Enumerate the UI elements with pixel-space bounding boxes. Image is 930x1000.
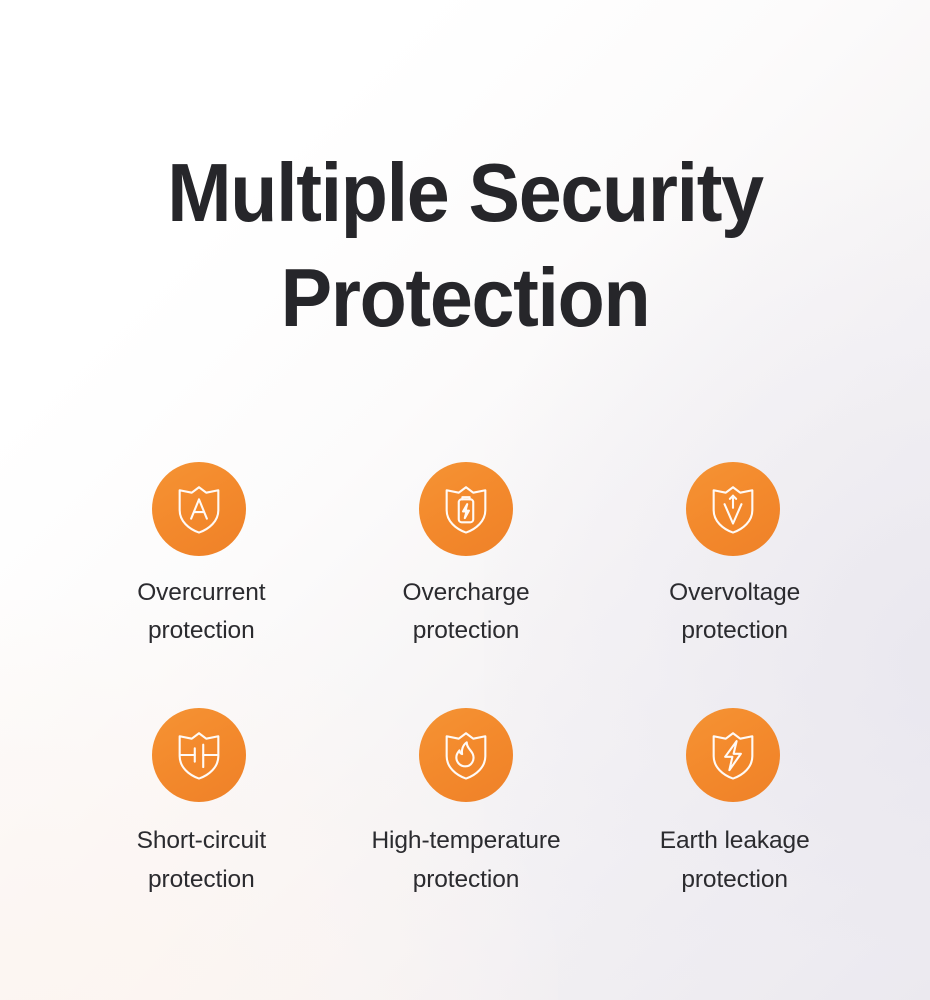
shield-battery-bolt-icon <box>437 480 495 538</box>
feature-earth-leakage: Earth leakage protection <box>599 708 866 898</box>
shield-open-circuit-icon <box>170 726 228 784</box>
shield-bolt-icon <box>704 726 762 784</box>
feature-overcharge: Overcharge protection <box>333 462 600 650</box>
page-title-block: Multiple Security Protection <box>0 140 930 351</box>
page-content: Multiple Security Protection Overcurrent… <box>0 0 930 1000</box>
shield-ampere-icon <box>170 480 228 538</box>
shield-flame-icon <box>437 726 495 784</box>
feature-label-high-temperature: High-temperature protection <box>371 822 560 898</box>
feature-icon-badge-earth-leakage <box>686 708 780 802</box>
feature-icon-badge-overcurrent <box>152 462 246 556</box>
protection-feature-grid: Overcurrent protection Overcharge protec… <box>66 462 866 899</box>
feature-label-short-circuit: Short-circuit protection <box>137 822 266 898</box>
feature-icon-badge-high-temperature <box>419 708 513 802</box>
feature-short-circuit: Short-circuit protection <box>66 708 333 898</box>
feature-label-overvoltage: Overvoltage protection <box>669 574 800 650</box>
page-title: Multiple Security Protection <box>33 140 898 351</box>
feature-overcurrent: Overcurrent protection <box>66 462 333 650</box>
security-features-page: Multiple Security Protection Overcurrent… <box>0 0 930 1000</box>
feature-icon-badge-short-circuit <box>152 708 246 802</box>
feature-icon-badge-overvoltage <box>686 462 780 556</box>
feature-icon-badge-overcharge <box>419 462 513 556</box>
feature-label-overcharge: Overcharge protection <box>402 574 529 650</box>
shield-volt-arrow-icon <box>704 480 762 538</box>
feature-label-overcurrent: Overcurrent protection <box>137 574 265 650</box>
feature-high-temperature: High-temperature protection <box>333 708 600 898</box>
feature-label-earth-leakage: Earth leakage protection <box>660 822 810 898</box>
feature-overvoltage: Overvoltage protection <box>599 462 866 650</box>
